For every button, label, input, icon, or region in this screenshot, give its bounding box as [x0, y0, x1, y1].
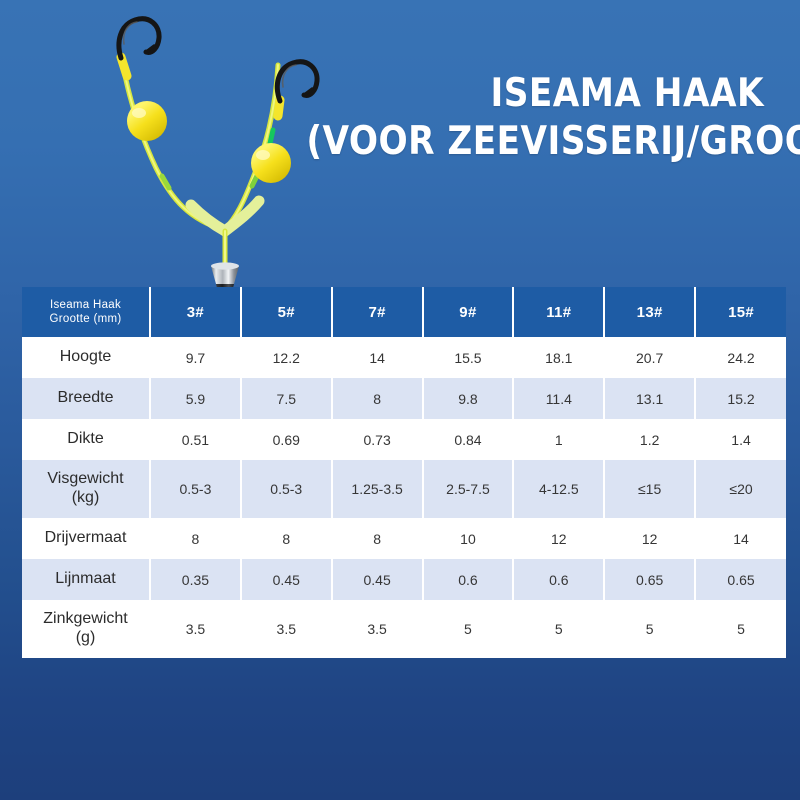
fishing-hook-left — [119, 19, 159, 58]
cell-zinkgewicht-5: 5 — [604, 600, 695, 658]
cell-drijvermaat-6: 14 — [695, 518, 786, 559]
row-label-zinkgewicht: Zinkgewicht (g) — [22, 600, 150, 658]
cell-hoogte-1: 12.2 — [241, 337, 332, 378]
header-cell-size-label: Iseama Haak Grootte (mm) — [22, 287, 150, 337]
row-label-visgewicht-line-1: Visgewicht — [25, 470, 146, 489]
cell-zinkgewicht-3: 5 — [423, 600, 514, 658]
header-cell-size-5: 13# — [604, 287, 695, 337]
cell-hoogte-2: 14 — [332, 337, 423, 378]
cell-visgewicht-4: 4-12.5 — [513, 460, 604, 518]
cell-drijvermaat-0: 8 — [150, 518, 241, 559]
table-row: Dikte 0.51 0.69 0.73 0.84 1 1.2 1.4 — [22, 419, 786, 460]
cell-hoogte-0: 9.7 — [150, 337, 241, 378]
table-row: Hoogte 9.7 12.2 14 15.5 18.1 20.7 24.2 — [22, 337, 786, 378]
cell-lijnmaat-6: 0.65 — [695, 559, 786, 600]
cell-zinkgewicht-4: 5 — [513, 600, 604, 658]
table-row: Lijnmaat 0.35 0.45 0.45 0.6 0.6 0.65 0.6… — [22, 559, 786, 600]
cell-lijnmaat-3: 0.6 — [423, 559, 514, 600]
row-label-dikte: Dikte — [22, 419, 150, 460]
cell-visgewicht-1: 0.5-3 — [241, 460, 332, 518]
header-cell-size-6: 15# — [695, 287, 786, 337]
row-label-visgewicht-line-2: (kg) — [25, 489, 146, 508]
cell-visgewicht-5: ≤15 — [604, 460, 695, 518]
cell-zinkgewicht-2: 3.5 — [332, 600, 423, 658]
cell-drijvermaat-2: 8 — [332, 518, 423, 559]
table-row: Breedte 5.9 7.5 8 9.8 11.4 13.1 15.2 — [22, 378, 786, 419]
cell-drijvermaat-3: 10 — [423, 518, 514, 559]
cell-breedte-5: 13.1 — [604, 378, 695, 419]
rig-line-left — [122, 60, 224, 230]
cell-visgewicht-0: 0.5-3 — [150, 460, 241, 518]
cell-drijvermaat-1: 8 — [241, 518, 332, 559]
header-cell-size-0: 3# — [150, 287, 241, 337]
cell-drijvermaat-5: 12 — [604, 518, 695, 559]
cell-dikte-0: 0.51 — [150, 419, 241, 460]
row-label-drijvermaat: Drijvermaat — [22, 518, 150, 559]
spec-table: Iseama Haak Grootte (mm) 3# 5# 7# 9# 11#… — [22, 287, 786, 658]
cell-lijnmaat-4: 0.6 — [513, 559, 604, 600]
title-line-1: ISEAMA HAAK — [306, 74, 764, 114]
header-cell-size-1: 5# — [241, 287, 332, 337]
row-label-visgewicht: Visgewicht (kg) — [22, 460, 150, 518]
cell-lijnmaat-0: 0.35 — [150, 559, 241, 600]
cell-breedte-3: 9.8 — [423, 378, 514, 419]
cell-dikte-4: 1 — [513, 419, 604, 460]
header-cell-size-4: 11# — [513, 287, 604, 337]
cell-lijnmaat-2: 0.45 — [332, 559, 423, 600]
table-row: Zinkgewicht (g) 3.5 3.5 3.5 5 5 5 5 — [22, 600, 786, 658]
cell-dikte-6: 1.4 — [695, 419, 786, 460]
cell-dikte-2: 0.73 — [332, 419, 423, 460]
table-row: Drijvermaat 8 8 8 10 12 12 14 — [22, 518, 786, 559]
cell-dikte-5: 1.2 — [604, 419, 695, 460]
cell-dikte-1: 0.69 — [241, 419, 332, 460]
row-label-zinkgewicht-line-1: Zinkgewicht — [25, 610, 146, 629]
page-title: ISEAMA HAAK (VOOR ZEEVISSERIJ/GROOT) — [244, 74, 764, 162]
cell-hoogte-5: 20.7 — [604, 337, 695, 378]
cell-dikte-3: 0.84 — [423, 419, 514, 460]
table-row: Visgewicht (kg) 0.5-3 0.5-3 1.25-3.5 2.5… — [22, 460, 786, 518]
corner-label-line-1: Iseama Haak — [28, 298, 143, 312]
spec-table-head: Iseama Haak Grootte (mm) 3# 5# 7# 9# 11#… — [22, 287, 786, 337]
cell-breedte-2: 8 — [332, 378, 423, 419]
cell-lijnmaat-1: 0.45 — [241, 559, 332, 600]
cell-visgewicht-2: 1.25-3.5 — [332, 460, 423, 518]
row-label-hoogte: Hoogte — [22, 337, 150, 378]
header-cell-size-2: 7# — [332, 287, 423, 337]
title-line-2: (VOOR ZEEVISSERIJ/GROOT) — [306, 122, 764, 162]
table-header-row: Iseama Haak Grootte (mm) 3# 5# 7# 9# 11#… — [22, 287, 786, 337]
cell-hoogte-4: 18.1 — [513, 337, 604, 378]
spec-table-body: Hoogte 9.7 12.2 14 15.5 18.1 20.7 24.2 B… — [22, 337, 786, 658]
rig-bead-left — [127, 101, 167, 141]
cell-zinkgewicht-0: 3.5 — [150, 600, 241, 658]
cell-breedte-0: 5.9 — [150, 378, 241, 419]
cell-breedte-4: 11.4 — [513, 378, 604, 419]
cell-breedte-1: 7.5 — [241, 378, 332, 419]
cell-zinkgewicht-6: 5 — [695, 600, 786, 658]
cell-visgewicht-3: 2.5-7.5 — [423, 460, 514, 518]
cell-visgewicht-6: ≤20 — [695, 460, 786, 518]
cell-hoogte-6: 24.2 — [695, 337, 786, 378]
cell-hoogte-3: 15.5 — [423, 337, 514, 378]
rig-green-accent-2 — [162, 176, 169, 188]
cell-lijnmaat-5: 0.65 — [604, 559, 695, 600]
cell-zinkgewicht-1: 3.5 — [241, 600, 332, 658]
cell-drijvermaat-4: 12 — [513, 518, 604, 559]
row-label-breedte: Breedte — [22, 378, 150, 419]
spec-table-container: Iseama Haak Grootte (mm) 3# 5# 7# 9# 11#… — [22, 287, 786, 658]
corner-label-line-2: Grootte (mm) — [28, 312, 143, 326]
row-label-zinkgewicht-line-2: (g) — [25, 629, 146, 648]
header-cell-size-3: 9# — [423, 287, 514, 337]
row-label-lijnmaat: Lijnmaat — [22, 559, 150, 600]
cell-breedte-6: 15.2 — [695, 378, 786, 419]
